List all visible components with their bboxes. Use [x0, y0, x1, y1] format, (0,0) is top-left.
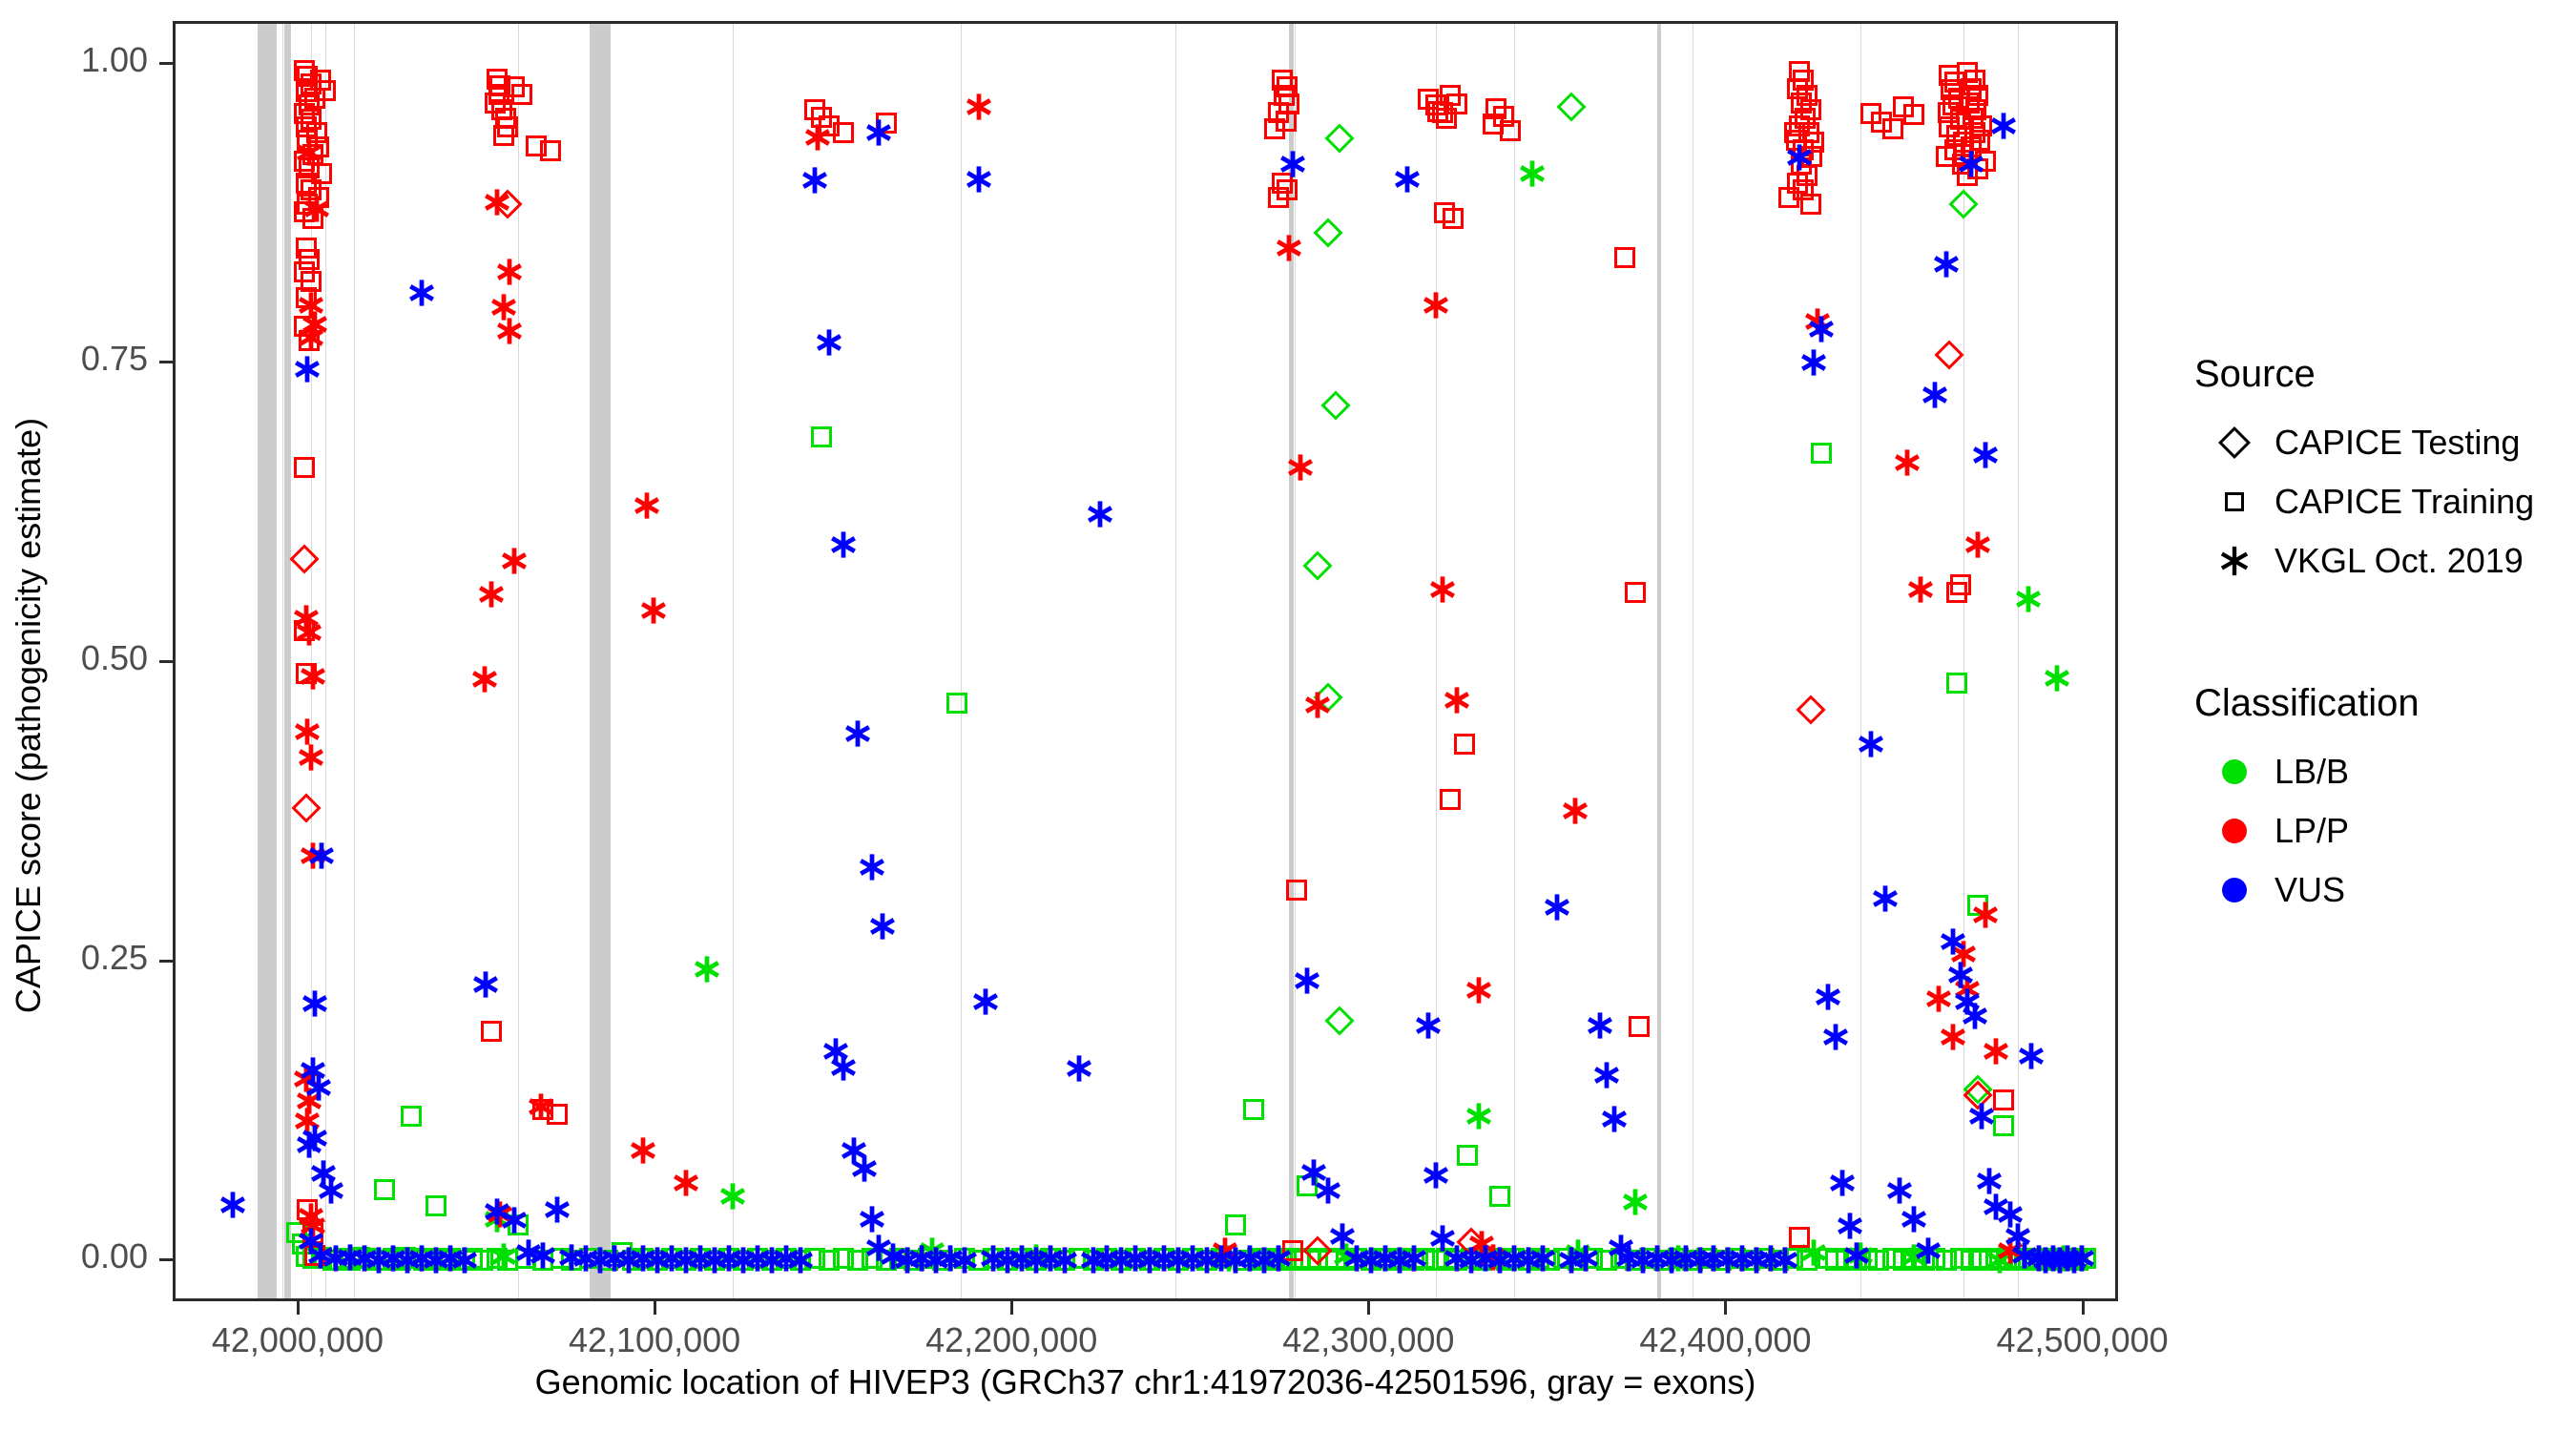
data-point [1034, 1242, 1067, 1275]
data-point [1196, 1250, 1217, 1271]
data-point [1605, 1232, 1637, 1264]
data-point [741, 1242, 774, 1275]
legend-item[interactable]: CAPICE Testing [2194, 413, 2576, 472]
data-point [293, 1129, 325, 1161]
data-point [2010, 1250, 2031, 1271]
data-point [1590, 1059, 1623, 1091]
data-point [1219, 1244, 1252, 1276]
data-point [916, 1234, 948, 1267]
data-point [856, 851, 888, 883]
data-point [2037, 1242, 2069, 1275]
data-point [297, 1210, 329, 1242]
data-point [954, 1248, 975, 1269]
data-point [493, 125, 514, 146]
data-point [2008, 1239, 2041, 1272]
grid-line [518, 24, 519, 1298]
data-point [1891, 446, 1923, 479]
grid-line [1693, 24, 1693, 1298]
data-point [1860, 103, 1881, 124]
data-point [1083, 1250, 1104, 1271]
data-point [302, 144, 323, 165]
data-point [1846, 1250, 1867, 1271]
data-point [1782, 1248, 1803, 1269]
data-point [1324, 124, 1354, 154]
data-point [655, 1242, 688, 1275]
data-point [405, 1242, 438, 1275]
data-point [1791, 93, 1812, 114]
data-point [1243, 1099, 1264, 1120]
data-point [488, 1240, 520, 1273]
data-point [1205, 1242, 1237, 1275]
data-point [1944, 139, 1965, 160]
data-point [311, 1247, 332, 1268]
data-point [1950, 1248, 1971, 1269]
data-point [1153, 1248, 1174, 1269]
data-point [1967, 895, 1988, 916]
data-point [541, 1193, 573, 1226]
data-point [1553, 1248, 1574, 1269]
data-point [1725, 1248, 1746, 1269]
data-point [2066, 1242, 2098, 1275]
data-point [291, 353, 323, 385]
data-point [475, 578, 508, 611]
data-point [297, 840, 329, 872]
data-point [299, 157, 320, 178]
data-point [377, 1242, 409, 1275]
data-point [489, 75, 510, 96]
data-point [1994, 1198, 2026, 1231]
data-point [299, 330, 320, 351]
data-point [1461, 1248, 1482, 1269]
data-point [526, 135, 547, 156]
data-point [1950, 574, 1971, 595]
data-point [876, 113, 897, 134]
data-point [1300, 1250, 1321, 1271]
data-point [395, 1247, 416, 1268]
data-point [1527, 1242, 1559, 1275]
legend-item[interactable]: VUS [2194, 861, 2576, 920]
data-point [1962, 529, 1994, 561]
data-point [297, 1054, 329, 1087]
data-point [1436, 1248, 1457, 1269]
grid-line [1175, 24, 1176, 1298]
data-point [1883, 1174, 1916, 1207]
data-point [804, 1248, 825, 1269]
data-point [487, 69, 508, 90]
data-point [684, 1242, 717, 1275]
data-point [977, 1242, 1009, 1275]
data-point [1789, 115, 1810, 136]
data-point [1264, 118, 1285, 139]
plot-panel [173, 21, 2118, 1301]
data-point [819, 1250, 840, 1271]
data-point [391, 1244, 424, 1276]
legend-item[interactable]: CAPICE Training [2194, 472, 2576, 531]
x-tick-mark [2082, 1301, 2085, 1315]
data-point [1446, 93, 1467, 114]
data-point [827, 529, 860, 561]
data-point [1303, 551, 1333, 581]
data-point [804, 99, 825, 120]
data-point [1434, 202, 1455, 223]
data-point [307, 1157, 340, 1190]
data-point [848, 1152, 881, 1185]
data-point [1133, 1244, 1166, 1276]
data-point [631, 489, 663, 522]
data-point [1627, 1244, 1659, 1276]
data-point [1964, 70, 1985, 91]
data-point [1793, 70, 1814, 91]
data-point [1105, 1244, 1137, 1276]
data-point [390, 1250, 411, 1271]
data-point [1826, 1167, 1859, 1199]
data-point [2051, 1242, 2084, 1275]
data-point [613, 1244, 645, 1276]
grid-line [354, 24, 355, 1298]
data-point [1446, 1250, 1467, 1271]
legend-square-icon [2194, 472, 2275, 531]
data-point [1598, 1103, 1631, 1135]
data-point [948, 1244, 981, 1276]
data-point [877, 1240, 909, 1273]
x-tick-label: 42,500,000 [1996, 1320, 2168, 1360]
data-point [1443, 208, 1464, 229]
data-point [747, 1248, 768, 1269]
data-point [983, 1248, 1004, 1269]
data-point [1797, 1250, 1818, 1271]
y-tick-mark [159, 1258, 173, 1261]
data-point [296, 81, 317, 102]
data-point [1812, 981, 1844, 1013]
data-point [1463, 1100, 1495, 1132]
data-point [1484, 1244, 1516, 1276]
data-point [433, 1250, 454, 1271]
data-point [296, 173, 317, 194]
data-point [297, 194, 318, 215]
data-point [363, 1244, 395, 1276]
data-point [1967, 158, 1988, 179]
data-point [333, 1248, 354, 1269]
data-point [1797, 346, 1830, 379]
data-point [661, 1248, 682, 1269]
legend-item-label: VUS [2275, 870, 2345, 910]
data-point [1063, 1052, 1095, 1085]
data-point [1944, 72, 1965, 93]
data-point [1471, 1250, 1492, 1271]
data-point [713, 1242, 745, 1275]
data-point [1882, 1248, 1903, 1269]
data-point [532, 1250, 553, 1271]
data-point [291, 715, 323, 748]
x-tick-mark [1724, 1301, 1727, 1315]
data-point [2004, 1248, 2025, 1269]
data-point [289, 544, 319, 573]
data-point [1254, 1250, 1275, 1271]
data-point [485, 93, 506, 114]
grid-line [311, 24, 312, 1298]
data-point [1485, 98, 1506, 119]
data-point [969, 985, 1002, 1018]
data-point [670, 1167, 702, 1199]
data-point [819, 115, 840, 136]
data-point [918, 1248, 939, 1269]
data-point [1942, 94, 1963, 115]
x-tick-mark [654, 1301, 656, 1315]
data-point [1993, 1089, 2014, 1110]
data-point [1539, 1250, 1560, 1271]
data-point [493, 256, 526, 288]
legend-dot-icon [2194, 801, 2275, 861]
data-point [1893, 96, 1914, 117]
data-point [1938, 102, 1959, 123]
data-point [1369, 1242, 1402, 1275]
data-point [1898, 1203, 1930, 1235]
x-tick-mark [1010, 1301, 1013, 1315]
data-point [776, 1248, 797, 1269]
data-point [1955, 148, 1987, 180]
data-point [1930, 248, 1963, 280]
data-point [1825, 1250, 1846, 1271]
data-point [811, 426, 832, 447]
data-point [2047, 1242, 2080, 1275]
data-point [718, 1248, 739, 1269]
data-point [1414, 1248, 1435, 1269]
data-point [1555, 1244, 1588, 1276]
data-point [963, 163, 995, 196]
data-point [1091, 1242, 1123, 1275]
data-point [1975, 151, 1996, 172]
grid-line [733, 24, 734, 1298]
data-point [1789, 1227, 1810, 1248]
data-point [484, 1198, 516, 1231]
data-point [299, 249, 320, 270]
data-point [1225, 1214, 1246, 1235]
data-point [462, 1248, 483, 1269]
y-tick-label: 0.25 [81, 938, 148, 978]
data-point [1268, 187, 1289, 208]
data-point [1569, 1242, 1602, 1275]
data-point [1556, 92, 1586, 121]
data-point [1950, 109, 1971, 130]
data-point [1493, 106, 1514, 127]
data-point [1662, 1242, 1694, 1275]
data-point [1454, 734, 1475, 755]
data-point [1778, 187, 1799, 208]
data-point [1314, 683, 1343, 713]
data-point [811, 107, 832, 128]
data-point [495, 108, 516, 129]
data-point [440, 1248, 461, 1269]
data-point [1111, 1250, 1132, 1271]
data-point [296, 287, 317, 308]
data-point [1914, 1250, 1935, 1271]
data-point [1026, 1250, 1047, 1271]
data-point [1951, 985, 1984, 1018]
data-point [310, 70, 331, 91]
x-tick-label: 42,400,000 [1639, 1320, 1811, 1360]
data-point [419, 1248, 440, 1269]
data-point [1798, 122, 1819, 143]
data-point [847, 1250, 868, 1271]
data-point [293, 1085, 325, 1117]
data-point [1612, 1242, 1645, 1275]
x-axis-title: Genomic location of HIVEP3 (GRCh37 chr1:… [173, 1359, 2118, 1405]
data-point [383, 1248, 404, 1269]
data-point [426, 1195, 447, 1216]
data-point [1869, 882, 1901, 915]
data-point [1739, 1250, 1760, 1271]
data-point [302, 208, 323, 229]
data-point [920, 1244, 952, 1276]
data-point [1398, 1242, 1430, 1275]
data-point [1441, 684, 1473, 716]
data-point [1755, 1242, 1787, 1275]
data-point [497, 1250, 518, 1271]
data-point [1697, 1242, 1730, 1275]
data-point [365, 1250, 386, 1271]
x-tick-mark [1367, 1301, 1370, 1315]
data-point [1893, 1250, 1914, 1271]
data-point [1162, 1244, 1195, 1276]
legend-item[interactable]: VKGL Oct. 2019 [2194, 531, 2576, 591]
data-point [698, 1244, 731, 1276]
exon-band [284, 24, 291, 1298]
data-point [491, 99, 512, 120]
data-point [296, 663, 317, 684]
data-point [1797, 165, 1818, 186]
data-point [1512, 1244, 1545, 1276]
data-point [1965, 99, 1986, 120]
data-point [691, 953, 723, 985]
data-point [2058, 1244, 2090, 1276]
legend-item-label: LP/P [2275, 811, 2349, 851]
data-point [1800, 99, 1821, 120]
data-point [905, 1242, 938, 1275]
data-point [1936, 1250, 1957, 1271]
data-point [1670, 1242, 1702, 1275]
data-point [991, 1244, 1024, 1276]
data-point [1006, 1242, 1038, 1275]
data-point [1325, 1248, 1346, 1269]
data-point [641, 1244, 674, 1276]
data-point [299, 94, 320, 115]
y-tick-label: 1.00 [81, 40, 148, 80]
data-point [2067, 1250, 2088, 1271]
legend-diamond-icon [2194, 413, 2275, 472]
data-point [1957, 165, 1978, 186]
data-point [876, 1250, 897, 1271]
data-point [1959, 93, 1980, 114]
data-point [297, 66, 318, 87]
data-point [1964, 122, 1985, 143]
data-point [297, 1199, 318, 1220]
data-point [472, 1250, 493, 1271]
data-point [1528, 1248, 1549, 1269]
data-point [1139, 1250, 1160, 1271]
data-point [1336, 1250, 1357, 1271]
data-point [1969, 130, 1990, 151]
data-point [1769, 1244, 1801, 1276]
data-point [297, 130, 318, 151]
data-point [784, 1244, 817, 1276]
grid-line [1860, 24, 1861, 1298]
data-point [292, 1234, 313, 1255]
data-point [1944, 959, 1977, 991]
data-point [1268, 102, 1289, 123]
legend-item[interactable]: LP/P [2194, 801, 2576, 861]
data-point [1584, 1009, 1616, 1042]
data-point [1582, 1248, 1603, 1269]
data-point [302, 1071, 335, 1104]
data-point [862, 1232, 895, 1264]
data-point [1355, 1244, 1387, 1276]
data-point [2053, 1250, 2074, 1271]
data-point [1382, 1250, 1403, 1271]
data-point [488, 291, 520, 323]
data-point [1489, 1186, 1510, 1207]
data-point [290, 602, 322, 634]
legend-item[interactable]: LB/B [2194, 742, 2576, 801]
data-point [838, 1134, 870, 1167]
data-point [527, 1239, 559, 1272]
data-point [304, 1245, 325, 1266]
data-point [297, 660, 329, 693]
data-point [690, 1248, 711, 1269]
data-point [1457, 1227, 1486, 1256]
data-point [378, 1250, 399, 1271]
grid-line [1514, 24, 1515, 1298]
y-axis-title: CAPICE score (pathogenicity estimate) [0, 0, 57, 1431]
data-point [401, 1106, 422, 1127]
data-point [963, 91, 995, 123]
data-point [1712, 1244, 1744, 1276]
data-point [1629, 1016, 1650, 1037]
data-point [841, 717, 874, 750]
legend-item-label: CAPICE Testing [2275, 423, 2520, 463]
data-point [1801, 146, 1822, 167]
data-point [1803, 132, 1824, 153]
data-point [1326, 1220, 1359, 1253]
data-point [1011, 1248, 1032, 1269]
data-point [1234, 1242, 1266, 1275]
legend-group-title: Classification [2194, 682, 2576, 725]
data-point [856, 1203, 888, 1235]
data-point [1625, 1250, 1646, 1271]
data-point [1941, 79, 1962, 100]
data-point [1211, 1248, 1232, 1269]
data-point [1971, 115, 1992, 136]
data-point [1346, 1248, 1367, 1269]
data-point [498, 545, 530, 577]
grid-line [282, 24, 283, 1298]
data-point [866, 910, 899, 943]
y-tick-mark [159, 361, 173, 363]
data-point [862, 116, 895, 149]
scatter-plot-figure: CAPICE score (pathogenicity estimate) Ge… [0, 0, 2576, 1431]
data-point [946, 693, 967, 714]
data-point [1069, 1248, 1090, 1269]
data-point [997, 1250, 1018, 1271]
legend-item-label: VKGL Oct. 2019 [2275, 541, 2524, 581]
data-point [801, 121, 834, 154]
grid-line [1436, 24, 1437, 1298]
data-point [481, 1195, 513, 1228]
data-point [413, 1250, 434, 1271]
data-point [968, 1250, 989, 1271]
data-point [1796, 695, 1825, 724]
legend-asterisk-icon [2194, 531, 2275, 591]
data-point [349, 1247, 370, 1268]
